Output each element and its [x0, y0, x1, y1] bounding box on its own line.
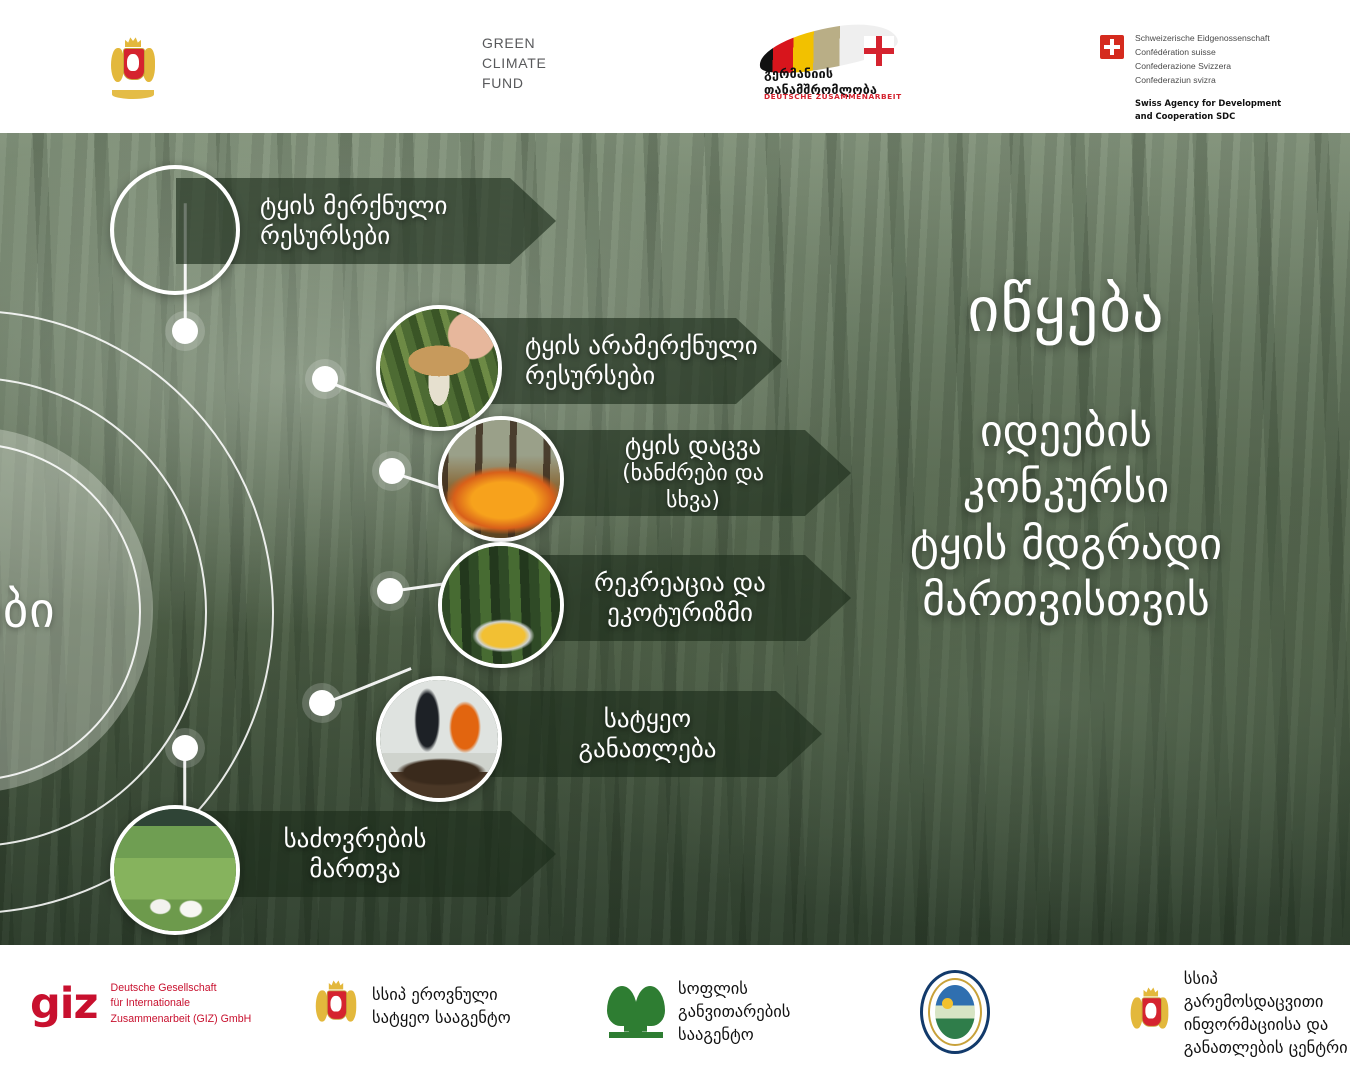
center-circle-label: თემები — [0, 427, 153, 793]
header-logo-bar: GREEN CLIMATE FUND გერმანიის თანამშრომლო… — [0, 0, 1350, 133]
rural-development-agency-logo: სოფლის განვითარების სააგენტო — [607, 977, 790, 1046]
german-cooperation-logo: გერმანიის თანამშრომლობა DEUTSCHE ZUSAMME… — [750, 24, 910, 102]
rural-agency-line-1: სოფლის — [678, 977, 790, 1000]
poster-root: GREEN CLIMATE FUND გერმანიის თანამშრომლო… — [0, 0, 1350, 1080]
seal-sun-shape — [942, 998, 953, 1009]
swiss-agency-line-1: Swiss Agency for Development — [1135, 97, 1281, 110]
saint-george-rider-shape — [127, 54, 139, 71]
node-recreation — [377, 578, 403, 604]
gcf-line-1: GREEN — [482, 34, 547, 54]
topic-label-recreation: რეკრეაცია და ეკოტურიზმი — [575, 568, 785, 629]
topic-label-timber: ტყის მერქნული რესურსები — [260, 191, 447, 252]
ribbon-shape — [112, 90, 154, 99]
environmental-center-line-2: ინფორმაციისა და — [1184, 1013, 1350, 1036]
node-protection — [379, 458, 405, 484]
gcf-line-3: FUND — [482, 74, 547, 94]
headline-subtext: იდეების კონკურსი ტყის მდგრადი მართვისთვი… — [826, 404, 1306, 629]
crown-icon — [125, 36, 141, 47]
mushroom-photo — [376, 305, 502, 431]
rural-development-agency-text: სოფლის განვითარების სააგენტო — [678, 977, 790, 1046]
headline-main: იწყება — [826, 273, 1306, 346]
two-trees-house-icon — [607, 986, 665, 1038]
swiss-flag-icon — [1100, 35, 1124, 59]
sheep-pasture-photo — [110, 805, 240, 935]
swiss-sdc-logo: Schweizerische Eidgenossenschaft Confédé… — [1100, 32, 1281, 124]
swiss-agency-line-2: and Cooperation SDC — [1135, 110, 1281, 123]
topic-label-protection-line-1: ტყის დაცვა — [603, 431, 783, 462]
topic-label-education-line-2: განათლება — [555, 734, 740, 765]
headline-block: იწყება იდეების კონკურსი ტყის მდგრადი მარ… — [826, 273, 1306, 629]
ground-bar-shape — [609, 1032, 663, 1038]
giz-line-2: für Internationale — [111, 996, 252, 1011]
giz-line-3: Zusammenarbeit (GIZ) GmbH — [111, 1012, 252, 1027]
crown-icon — [1144, 987, 1159, 997]
topic-label-non-timber: ტყის არამერქნული რესურსები — [525, 331, 758, 392]
swiss-line-it: Confederazione Svizzera — [1135, 60, 1281, 74]
topic-label-recreation-line-1: რეკრეაცია და — [575, 568, 785, 599]
stacked-logs-photo — [110, 165, 240, 295]
german-cooperation-mark: გერმანიის თანამშრომლობა DEUTSCHE ZUSAMME… — [750, 24, 910, 102]
swiss-agency-name: Swiss Agency for Development and Coopera… — [1135, 97, 1281, 124]
deutsche-zusammenarbeit-text: DEUTSCHE ZUSAMMENARBEIT — [764, 92, 902, 101]
swiss-confederation-names: Schweizerische Eidgenossenschaft Confédé… — [1135, 32, 1281, 88]
swiss-line-fr: Confédération suisse — [1135, 46, 1281, 60]
coat-of-arms-icon — [110, 30, 156, 100]
national-forestry-agency-text: სსიპ ეროვნული სატყეო სააგენტო — [372, 983, 511, 1029]
green-climate-fund-logo: GREEN CLIMATE FUND — [415, 28, 547, 100]
mushroom-image — [380, 309, 498, 427]
topic-arrow-education[interactable]: სატყეო განათლება — [447, 691, 822, 777]
coat-of-arms-icon-eiec — [1130, 981, 1169, 1045]
coat-of-arms-icon-forestry — [315, 974, 357, 1038]
topic-label-pasture-line-2: მართვა — [260, 854, 450, 885]
topic-label-non-timber-line-2: რესურსები — [525, 361, 758, 392]
subhead-line-3: ტყის მდგრადი — [826, 517, 1306, 573]
giz-logo: giz Deutsche Gesellschaft für Internatio… — [30, 981, 251, 1027]
swiss-sdc-text-block: Schweizerische Eidgenossenschaft Confédé… — [1135, 32, 1281, 124]
subhead-line-2: კონკურსი — [826, 460, 1306, 516]
main-visual-panel: თემები ტყის მერქნული რესურსები ტყის არამ… — [0, 133, 1350, 945]
topic-label-protection: ტყის დაცვა (ხანძრები და სხვა) — [603, 431, 783, 515]
swiss-line-rm: Confederaziun svizra — [1135, 74, 1281, 88]
node-timber — [172, 318, 198, 344]
topic-label-timber-line-1: ტყის მერქნული — [260, 191, 447, 222]
environmental-center-line-3: განათლების ცენტრი — [1184, 1036, 1350, 1059]
topic-label-pasture-line-1: საძოვრების — [260, 824, 450, 855]
german-cooperation-ka-line-1: გერმანიის — [764, 66, 877, 82]
topic-label-education: სატყეო განათლება — [555, 704, 740, 765]
gcf-wordmark: GREEN CLIMATE FUND — [482, 34, 547, 94]
swiss-line-de: Schweizerische Eidgenossenschaft — [1135, 32, 1281, 46]
stacked-logs-image — [114, 169, 236, 291]
topic-label-pasture: საძოვრების მართვა — [260, 824, 450, 885]
forestry-agency-line-2: სატყეო სააგენტო — [372, 1006, 511, 1029]
national-forestry-agency-logo: სსიპ ეროვნული სატყეო სააგენტო — [313, 971, 511, 1041]
footer-logo-bar: giz Deutsche Gesellschaft für Internatio… — [0, 945, 1350, 1080]
topic-label-education-line-1: სატყეო — [555, 704, 740, 735]
environmental-center-text: სსიპ გარემოსდაცვითი ინფორმაციისა და განა… — [1184, 967, 1350, 1059]
environmental-center-line-1: სსიპ გარემოსდაცვითი — [1184, 967, 1350, 1013]
rural-agency-line-3: სააგენტო — [678, 1023, 790, 1046]
node-education — [309, 690, 335, 716]
forestry-agency-line-1: სსიპ ეროვნული — [372, 983, 511, 1006]
topic-label-non-timber-line-1: ტყის არამერქნული — [525, 331, 758, 362]
topic-label-timber-line-2: რესურსები — [260, 221, 447, 252]
saint-george-rider-shape — [1145, 1003, 1156, 1019]
giz-subtext: Deutsche Gesellschaft für Internationale… — [111, 981, 252, 1027]
georgian-cross-flag-icon — [864, 36, 894, 66]
forest-fire-photo — [438, 416, 564, 542]
camping-tent-photo — [438, 542, 564, 668]
node-non-timber — [312, 366, 338, 392]
crown-icon — [329, 979, 344, 989]
ministry-seal-icon — [920, 970, 990, 1054]
seal-inner-emblem — [935, 985, 975, 1039]
topic-label-recreation-line-2: ეკოტურიზმი — [575, 598, 785, 629]
sheep-pasture-image — [114, 809, 236, 931]
chainsaw-image — [380, 680, 498, 798]
saint-george-rider-shape — [330, 996, 341, 1012]
gcf-line-2: CLIMATE — [482, 54, 547, 74]
environmental-info-education-center-logo: სსიპ გარემოსდაცვითი ინფორმაციისა და განა… — [1128, 967, 1350, 1059]
node-pasture — [172, 735, 198, 761]
rural-agency-line-2: განვითარების — [678, 1000, 790, 1023]
giz-wordmark: giz — [30, 983, 98, 1026]
forest-fire-image — [442, 420, 560, 538]
subhead-line-4: მართვისთვის — [826, 573, 1306, 629]
gcf-polygon-icon — [415, 28, 473, 100]
georgia-coat-of-arms-logo — [110, 30, 156, 100]
chainsaw-photo — [376, 676, 502, 802]
topic-label-protection-line-2: (ხანძრები და სხვა) — [603, 461, 783, 515]
subhead-line-1: იდეების — [826, 404, 1306, 460]
ministry-seal-logo — [920, 970, 990, 1054]
camping-tent-image — [442, 546, 560, 664]
giz-line-1: Deutsche Gesellschaft — [111, 981, 252, 996]
